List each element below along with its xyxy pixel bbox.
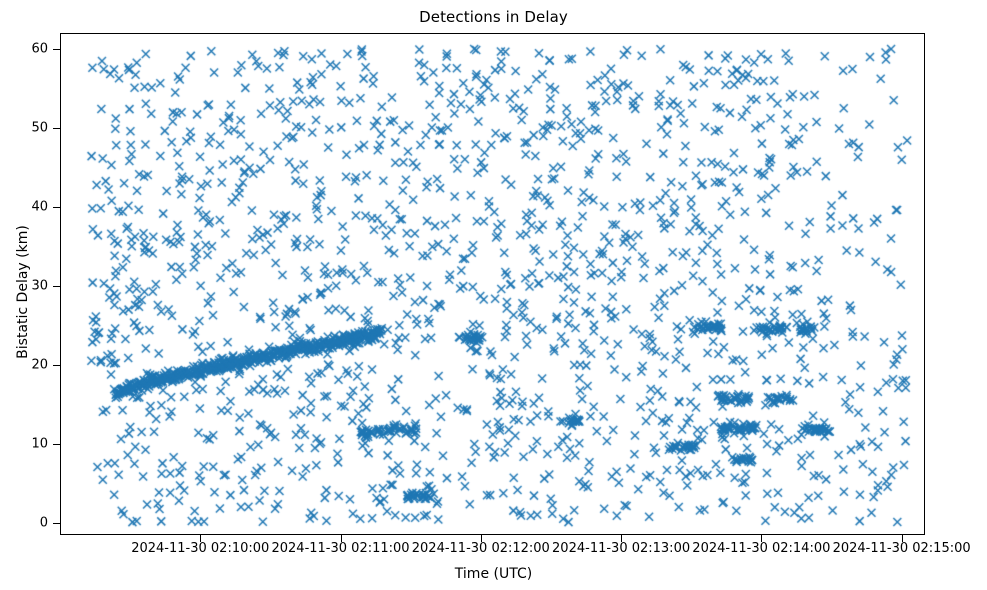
x-tick-mark bbox=[200, 535, 201, 542]
x-tick-label-0: 2024-11-30 02:10:00 bbox=[131, 541, 269, 556]
x-tick-label-1: 2024-11-30 02:11:00 bbox=[271, 541, 409, 556]
x-tick-label-3: 2024-11-30 02:13:00 bbox=[552, 541, 690, 556]
x-tick-label-4: 2024-11-30 02:14:00 bbox=[692, 541, 830, 556]
y-tick-mark bbox=[53, 49, 60, 50]
x-tick-mark bbox=[621, 535, 622, 542]
x-tick-label-5: 2024-11-30 02:15:00 bbox=[833, 541, 971, 556]
y-tick-mark bbox=[53, 523, 60, 524]
y-tick-label-20: 20 bbox=[31, 358, 48, 373]
y-tick-label-10: 10 bbox=[31, 437, 48, 452]
x-tick-mark bbox=[902, 535, 903, 542]
x-tick-mark bbox=[761, 535, 762, 542]
y-tick-mark bbox=[53, 444, 60, 445]
x-tick-mark bbox=[341, 535, 342, 542]
chart-title: Detections in Delay bbox=[0, 8, 987, 26]
y-tick-label-50: 50 bbox=[31, 120, 48, 135]
y-tick-label-0: 0 bbox=[40, 516, 48, 531]
y-tick-label-30: 30 bbox=[31, 278, 48, 293]
y-tick-mark bbox=[53, 365, 60, 366]
y-tick-mark bbox=[53, 128, 60, 129]
y-tick-mark bbox=[53, 207, 60, 208]
y-tick-label-40: 40 bbox=[31, 199, 48, 214]
y-tick-label-60: 60 bbox=[31, 41, 48, 56]
y-tick-mark bbox=[53, 286, 60, 287]
matplotlib-figure: Detections in Delay 0102030405060 2024-1… bbox=[0, 0, 987, 590]
scatter-plot-canvas bbox=[61, 34, 925, 535]
x-axis-label: Time (UTC) bbox=[0, 566, 987, 582]
x-tick-label-2: 2024-11-30 02:12:00 bbox=[412, 541, 550, 556]
y-axis-label: Bistatic Delay (km) bbox=[15, 41, 31, 543]
x-tick-mark bbox=[481, 535, 482, 542]
plot-area bbox=[60, 33, 925, 535]
